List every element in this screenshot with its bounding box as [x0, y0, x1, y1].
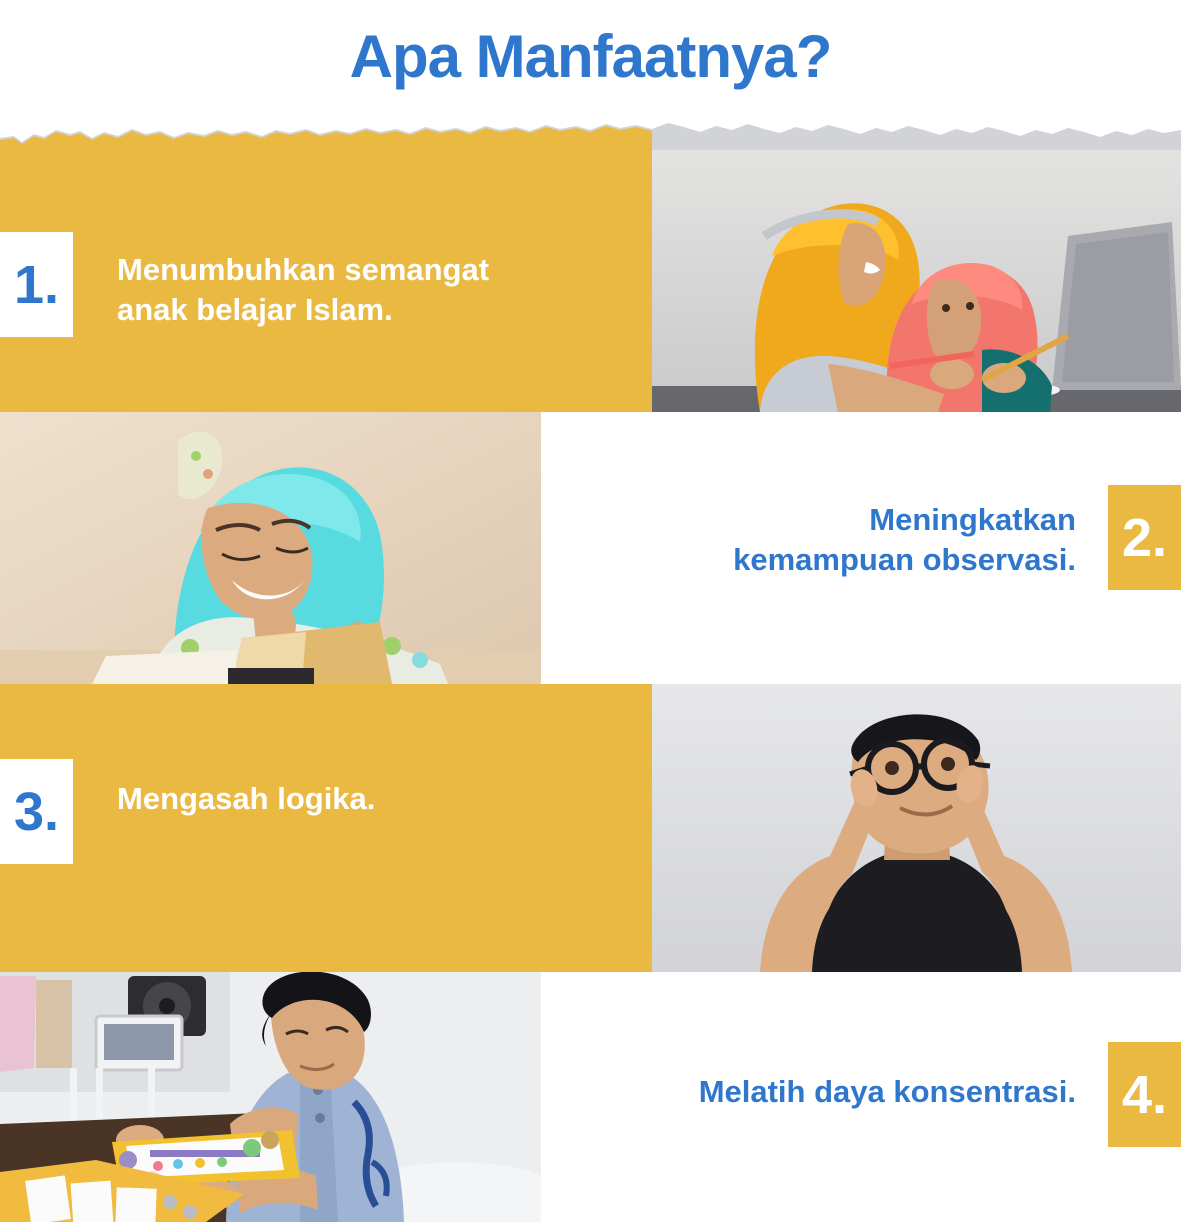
- boy-playing-board-game-photo: [0, 972, 541, 1222]
- benefit-label-2: Meningkatkan kemampuan observasi.: [556, 500, 1076, 579]
- benefit-row-4: 4. Melatih daya konsentrasi.: [0, 972, 1181, 1222]
- benefit-text-panel-3: 3. Mengasah logika.: [0, 684, 652, 972]
- number-badge-2: 2.: [1108, 485, 1181, 590]
- benefit-row-3: 3. Mengasah logika.: [0, 684, 1181, 972]
- benefit-photo-3: [652, 684, 1181, 972]
- benefit-label-4: Melatih daya konsentrasi.: [556, 1072, 1076, 1112]
- benefit-label-3: Mengasah logika.: [117, 779, 617, 819]
- page-title: Apa Manfaatnya?: [0, 22, 1181, 91]
- benefit-text-panel-1: 1. Menumbuhkan semangat anak belajar Isl…: [0, 150, 652, 412]
- number-badge-1: 1.: [0, 232, 73, 337]
- boy-thinking-photo: [652, 684, 1181, 972]
- benefit-label-1: Menumbuhkan semangat anak belajar Islam.: [117, 250, 617, 329]
- benefit-row-1: 1. Menumbuhkan semangat anak belajar Isl…: [0, 150, 1181, 412]
- benefit-text-panel-2: 2. Meningkatkan kemampuan observasi.: [541, 412, 1181, 684]
- benefit-photo-2: [0, 412, 541, 684]
- two-girls-with-laptop-photo: [652, 150, 1181, 412]
- header: Apa Manfaatnya?: [0, 0, 1181, 150]
- benefit-photo-1: [652, 150, 1181, 412]
- benefit-text-panel-4: 4. Melatih daya konsentrasi.: [541, 972, 1181, 1222]
- number-badge-4: 4.: [1108, 1042, 1181, 1147]
- infographic-page: Apa Manfaatnya? 1. Menumbuhkan semangat …: [0, 0, 1181, 1222]
- girl-reading-book-photo: [0, 412, 541, 684]
- number-badge-3: 3.: [0, 759, 73, 864]
- benefit-row-2: 2. Meningkatkan kemampuan observasi.: [0, 412, 1181, 684]
- benefit-photo-4: [0, 972, 541, 1222]
